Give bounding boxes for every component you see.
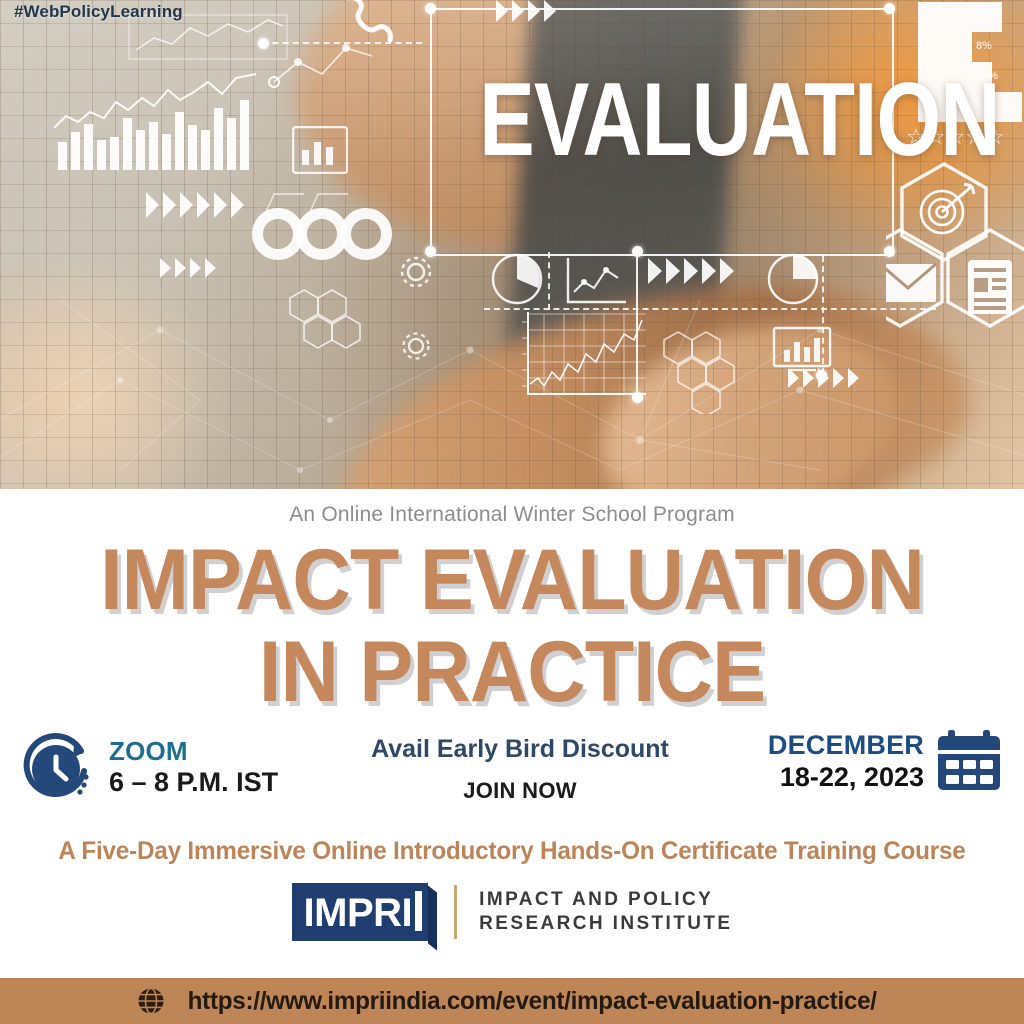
join-now-cta[interactable]: JOIN NOW [330, 776, 710, 806]
frame-node-dot [884, 246, 895, 257]
offer-headline: Avail Early Bird Discount [330, 733, 710, 765]
gear-icon [396, 252, 436, 292]
chevron-icon [146, 192, 244, 218]
node-dot [632, 392, 643, 403]
chevron-icon [160, 258, 216, 278]
platform-time: 6 – 8 P.M. IST [109, 766, 278, 798]
solid-connector [636, 250, 638, 400]
node-dot [816, 370, 827, 381]
tablet-icon [968, 260, 1012, 314]
hbar-label: 12% [976, 10, 998, 22]
poster-root: ☆☆☆☆☆ [0, 0, 1024, 1024]
logo-tagline-line2: RESEARCH INSTITUTE [479, 912, 732, 936]
trend-graph-panel-icon [508, 310, 648, 402]
logo-tagline-line1: IMPACT AND POLICY [479, 888, 732, 912]
event-url[interactable]: https://www.impriindia.com/event/impact-… [187, 987, 876, 1016]
chevron-icon [648, 258, 734, 284]
hero-banner: ☆☆☆☆☆ [0, 0, 1024, 489]
dashed-connector [484, 308, 936, 310]
pie-chart-icon [490, 252, 544, 306]
frame-node-dot [425, 3, 436, 14]
hexagon-icon-cluster [886, 160, 1024, 360]
hero-headline: EVALUATION [479, 68, 841, 172]
clock-icon [18, 727, 98, 807]
frame-node-dot [884, 3, 895, 14]
globe-icon [137, 987, 165, 1015]
donut-leader-lines-icon [244, 186, 394, 216]
hbar-label: 20% [1000, 100, 1022, 112]
chart-box-icon [292, 126, 348, 174]
dashed-connector [548, 252, 550, 310]
hashtag-label: #WebPolicyLearning [14, 2, 183, 22]
calendar-icon [936, 730, 1002, 792]
hbar [918, 32, 972, 62]
gear-icon [398, 328, 434, 364]
impri-mark-bar [415, 891, 422, 931]
dashed-connector [822, 256, 824, 374]
platform-block: ZOOM 6 – 8 P.M. IST [18, 727, 278, 807]
info-row: ZOOM 6 – 8 P.M. IST Avail Early Bird Dis… [0, 727, 1024, 827]
impri-wordmark-text: IMPRI [304, 891, 413, 935]
node-path-icon [268, 38, 378, 98]
event-days: 18-22, 2023 [768, 761, 924, 793]
dashed-connector [262, 42, 422, 44]
date-block: DECEMBER 18-22, 2023 [768, 729, 1002, 793]
impri-logo: IMPRI IMPACT AND POLICY RESEARCH INSTITU… [0, 883, 1024, 941]
platform-label: ZOOM [109, 736, 278, 766]
course-tagline: A Five-Day Immersive Online Introductory… [15, 837, 1008, 866]
logo-divider [454, 885, 457, 939]
envelope-icon [886, 264, 936, 302]
pie-chart-icon [766, 252, 820, 306]
content-area: An Online International Winter School Pr… [0, 489, 1024, 978]
phone-icon [336, 0, 394, 42]
url-bar: https://www.impriindia.com/event/impact-… [0, 978, 1024, 1024]
hbar-label: 8% [976, 40, 992, 52]
offer-block: Avail Early Bird Discount JOIN NOW [330, 733, 710, 806]
event-month: DECEMBER [768, 729, 924, 761]
honeycomb-icon [660, 328, 780, 414]
honeycomb-icon [286, 286, 396, 366]
line-chart-panel-icon [566, 256, 628, 306]
impri-wordmark: IMPRI [292, 883, 429, 941]
program-kicker: An Online International Winter School Pr… [0, 503, 1024, 527]
node-dot [258, 38, 269, 49]
frame-node-dot [425, 246, 436, 257]
line-chart-icon [50, 72, 265, 152]
page-title-line1: IMPACT EVALUATION [31, 537, 994, 623]
page-title-line2: IN PRACTICE [31, 629, 994, 715]
